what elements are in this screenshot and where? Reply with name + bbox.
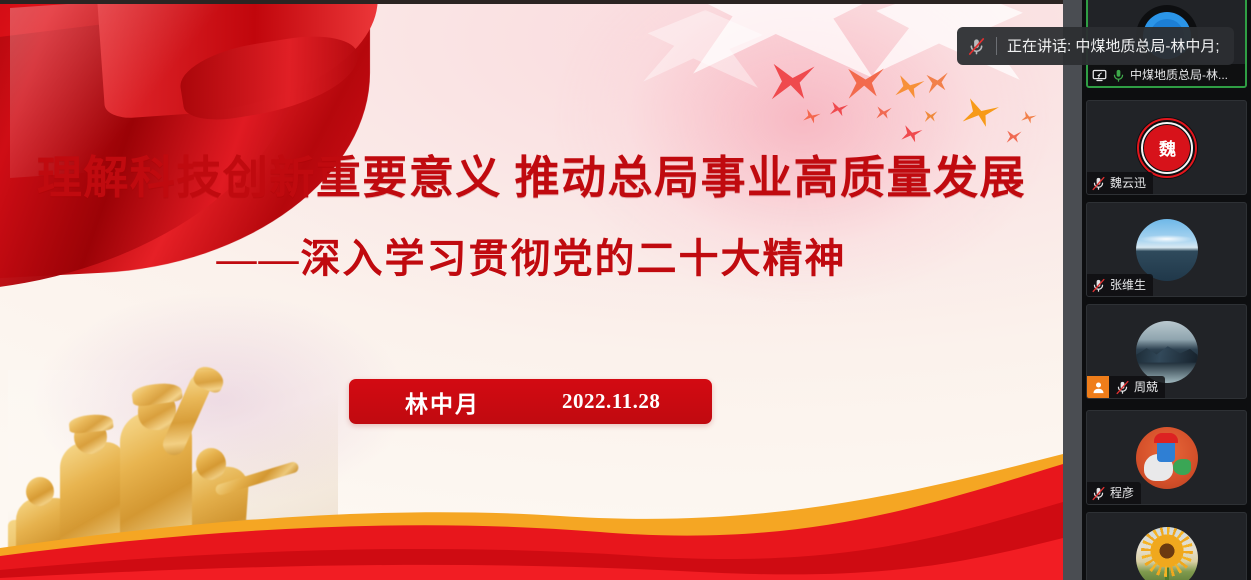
bird-icon: [844, 63, 889, 101]
mic-muted-icon: [1091, 176, 1106, 191]
participant-name: 程彦: [1110, 487, 1134, 499]
screen-share-icon: [1092, 68, 1107, 83]
bird-icon: [876, 105, 893, 119]
slide-title-sub: ——深入学习贯彻党的二十大精神: [0, 226, 1063, 284]
participant-name: 魏云迅: [1110, 177, 1146, 189]
slide-speaker-name: 林中月: [405, 385, 480, 419]
participant-name: 周兢: [1134, 381, 1158, 393]
participant-avatar: [1136, 527, 1198, 580]
shared-screen-stage[interactable]: 理解科技创新重要意义 推动总局事业高质量发展 ——深入学习贯彻党的二十大精神 林…: [0, 4, 1063, 580]
participant-tile[interactable]: 魏 魏云迅: [1086, 100, 1247, 195]
participant-avatar: [1136, 427, 1198, 489]
participant-namebar: 魏云迅: [1087, 172, 1153, 194]
tooltip-divider: [996, 37, 997, 55]
participants-panel[interactable]: 中煤地质总局-林... 魏 魏云迅: [1082, 0, 1251, 580]
slide-title-main: 理解科技创新重要意义 推动总局事业高质量发展: [0, 154, 1063, 204]
participant-name: 中煤地质总局-林...: [1130, 69, 1228, 81]
bird-icon: [1005, 129, 1022, 144]
participant-tile[interactable]: 张维生: [1086, 202, 1247, 297]
panel-splitter[interactable]: [1063, 0, 1082, 580]
bird-icon: [901, 125, 923, 143]
bird-icon: [803, 109, 821, 125]
slide-date: 2022.11.28: [562, 389, 660, 414]
speaker-date-badge: 林中月 2022.11.28: [349, 379, 712, 424]
bird-icon: [923, 109, 939, 123]
bird-icon: [962, 98, 999, 128]
participant-namebar: 张维生: [1087, 274, 1153, 296]
participant-tile[interactable]: [1086, 512, 1247, 580]
mic-muted-icon: [1115, 380, 1130, 395]
bird-icon: [830, 102, 848, 117]
mic-muted-icon: [967, 37, 986, 56]
participant-namebar: 中煤地质总局-林...: [1088, 64, 1245, 86]
mic-on-icon: [1111, 68, 1126, 83]
conference-window: 理解科技创新重要意义 推动总局事业高质量发展 ——深入学习贯彻党的二十大精神 林…: [0, 0, 1251, 580]
participant-tile[interactable]: 周兢: [1086, 304, 1247, 399]
participant-name: 张维生: [1110, 279, 1146, 291]
slide-title-block: 理解科技创新重要意义 推动总局事业高质量发展 ——深入学习贯彻党的二十大精神: [0, 154, 1063, 284]
participant-avatar: [1136, 321, 1198, 383]
tooltip-text: 正在讲话: 中煤地质总局-林中月;: [1007, 39, 1220, 54]
participant-avatar: 魏: [1136, 117, 1198, 179]
seal-glyph: 魏: [1144, 125, 1190, 171]
mic-muted-icon: [1091, 278, 1106, 293]
participant-namebar: 程彦: [1087, 482, 1141, 504]
speaking-tooltip: 正在讲话: 中煤地质总局-林中月;: [957, 27, 1234, 65]
participant-tile[interactable]: 程彦: [1086, 410, 1247, 505]
red-ribbon-graphic: [0, 430, 1063, 580]
participant-namebar: 周兢: [1087, 376, 1165, 398]
bird-icon: [768, 60, 818, 103]
bird-icon: [895, 75, 924, 99]
mic-muted-icon: [1091, 486, 1106, 501]
host-person-icon: [1087, 376, 1109, 398]
participant-avatar: [1136, 219, 1198, 281]
